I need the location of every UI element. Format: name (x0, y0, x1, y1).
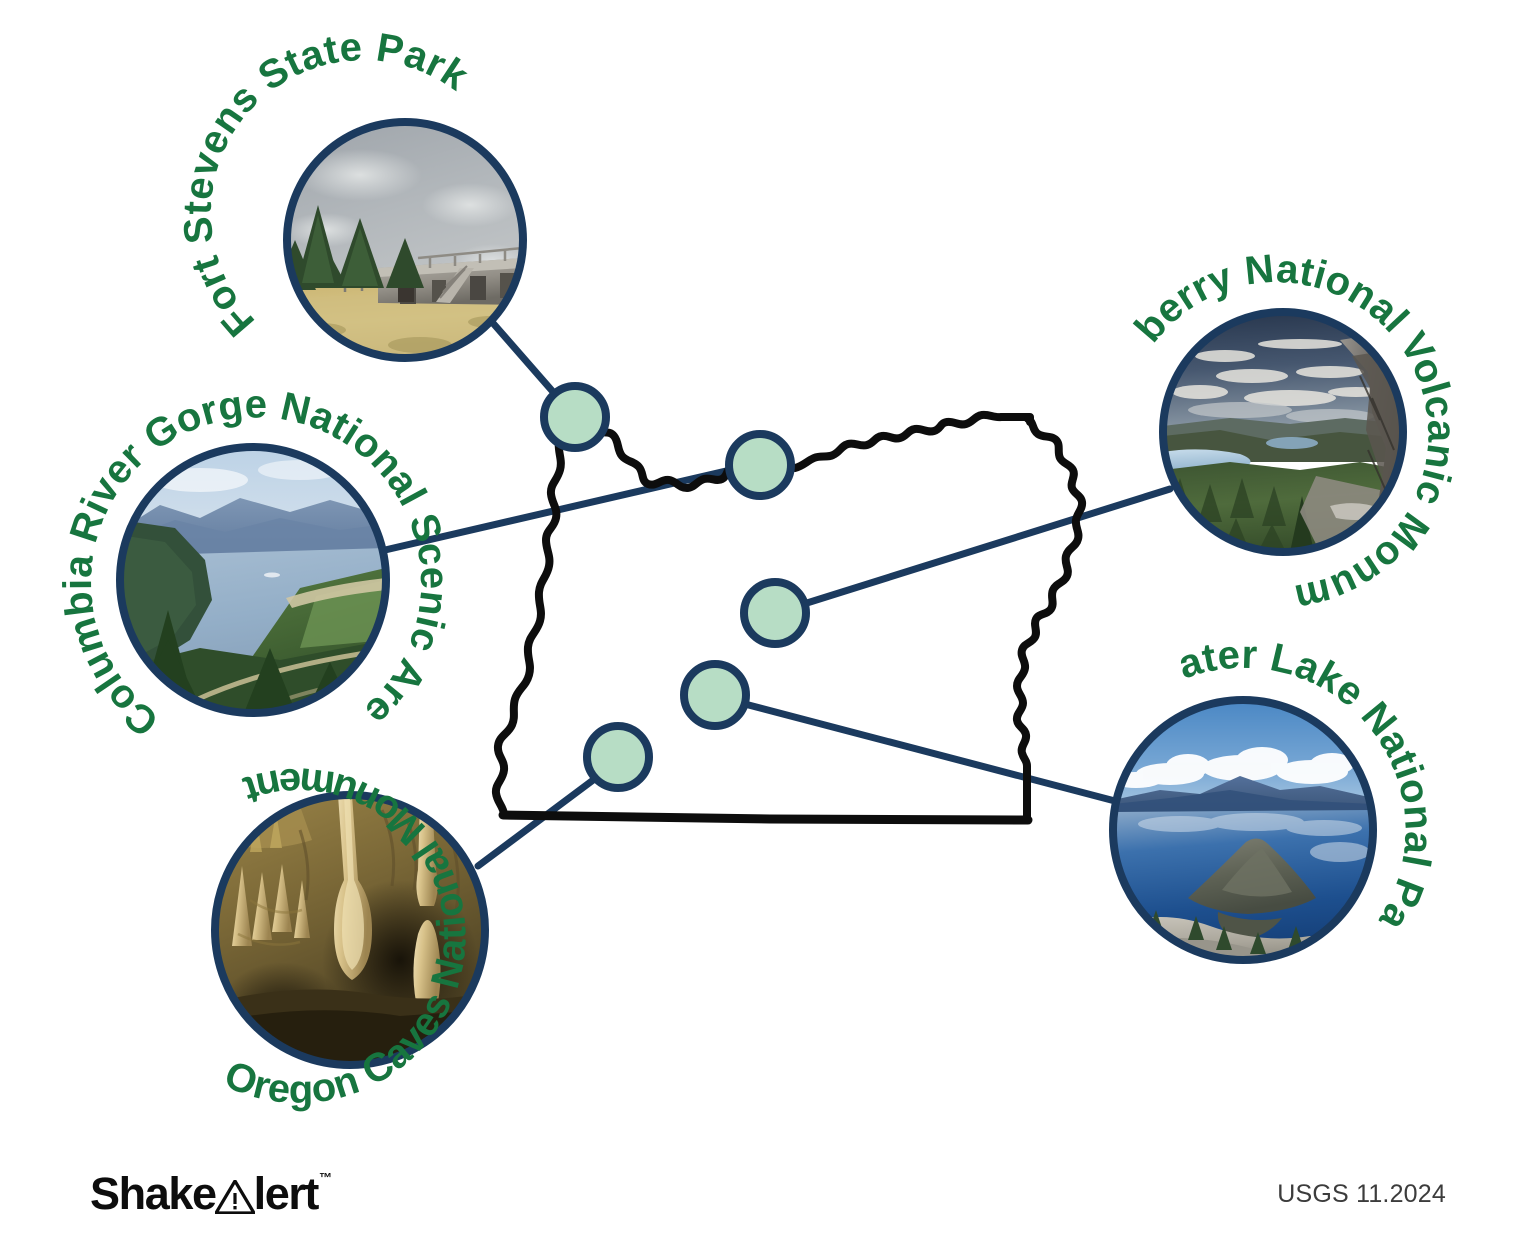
shakealert-logo: Shake lert ™ (90, 1168, 332, 1218)
shakealert-logo-shake: Shake (90, 1171, 216, 1216)
map-markers[interactable] (544, 386, 806, 788)
infographic-canvas: Fort Stevens State Park (0, 0, 1536, 1251)
photo-circle-columbia-gorge[interactable] (120, 447, 386, 713)
photo-circle-newberry[interactable] (1163, 312, 1403, 552)
map-marker-newberry[interactable] (744, 582, 806, 644)
usgs-credit: USGS 11.2024 (1277, 1180, 1446, 1209)
trademark-symbol: ™ (319, 1170, 332, 1185)
photo-circle-crater-lake[interactable] (1110, 700, 1373, 964)
photo-circle-fort-stevens[interactable] (274, 122, 530, 358)
shakealert-logo-lert: lert (254, 1171, 318, 1216)
map-marker-fort-stevens[interactable] (544, 386, 606, 448)
warning-triangle-icon (215, 1180, 255, 1214)
map-marker-crater-lake[interactable] (684, 664, 746, 726)
connector-crater-lake (718, 697, 1115, 801)
map-illustration: Fort Stevens State Park (0, 0, 1536, 1251)
map-marker-oregon-caves[interactable] (587, 726, 649, 788)
oregon-coastline (496, 438, 561, 814)
oregon-north-border-east (795, 415, 1030, 468)
map-marker-columbia-gorge[interactable] (729, 434, 791, 496)
connector-newberry (775, 489, 1170, 613)
oregon-south-border (503, 815, 1028, 820)
oregon-east-border (1017, 419, 1082, 818)
